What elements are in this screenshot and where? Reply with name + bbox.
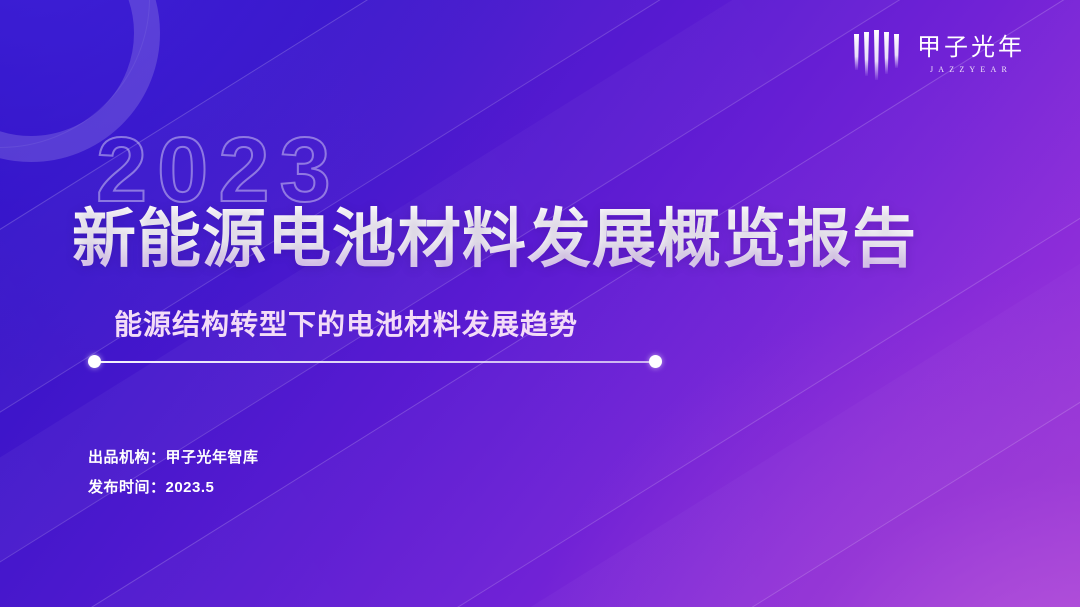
document-meta: 出品机构：甲子光年智库 发布时间：2023.5 [88, 443, 259, 503]
page-subtitle: 能源结构转型下的电池材料发展趋势 [114, 303, 578, 343]
brand-logo-text: 甲子光年 JAZZYEAR [917, 30, 1025, 74]
meta-publish-date: 发布时间：2023.5 [88, 473, 259, 503]
divider [88, 355, 662, 369]
page-title: 新能源电池材料发展概览报告 [72, 204, 917, 276]
title-slide: 甲子光年 JAZZYEAR 2023 新能源电池材料发展概览报告 能源结构转型下… [0, 0, 1080, 607]
divider-dot-right-icon [649, 355, 662, 368]
brand-name-cn: 甲子光年 [917, 35, 1025, 61]
divider-line [95, 361, 655, 363]
barcode-bars-icon [852, 30, 904, 80]
meta-publisher: 出品机构：甲子光年智库 [88, 443, 259, 473]
brand-name-en: JAZZYEAR [930, 65, 1012, 74]
brand-logo: 甲子光年 JAZZYEAR [852, 30, 1025, 80]
